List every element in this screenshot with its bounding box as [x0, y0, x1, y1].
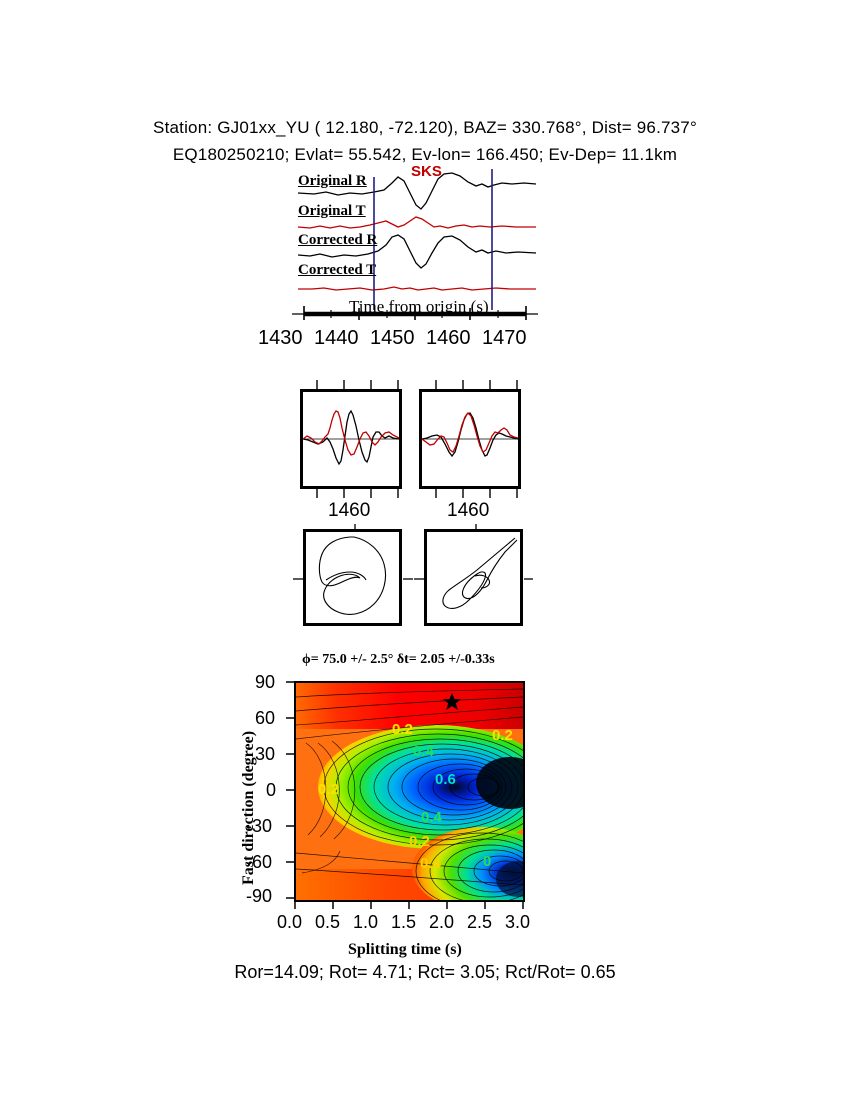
time-tick-1470: 1470 — [482, 327, 527, 350]
figure-root: Station: GJ01xx_YU ( 12.180, -72.120), B… — [0, 0, 850, 1100]
time-tick-1460: 1460 — [426, 327, 471, 350]
particle-motion-ellipse-uncorrected — [319, 537, 385, 614]
particle-motion-corrected — [424, 529, 523, 626]
contour-ytick-60: 60 — [255, 708, 275, 729]
time-tick-1440: 1440 — [314, 327, 359, 350]
contour-xtick-15: 1.5 — [391, 912, 416, 933]
zoom-left-fast-trace — [303, 411, 399, 455]
misfit-summary-footer: Ror=14.09; Rot= 4.71; Rct= 3.05; Rct/Rot… — [0, 962, 850, 983]
contour-label-1: 0.2 — [392, 721, 413, 738]
time-tick-1450: 1450 — [370, 327, 415, 350]
trace-label-original-r: Original R — [298, 173, 367, 190]
station-title-line1: Station: GJ01xx_YU ( 12.180, -72.120), B… — [0, 118, 850, 138]
zoom-right-fast-trace — [422, 413, 518, 452]
contour-label-7: 0.2 — [409, 833, 430, 850]
contour-y-axis-label: Fast direction (degree) — [240, 731, 258, 885]
contour-label-3: 0.6 — [435, 771, 456, 788]
contour-xtick-30: 3.0 — [505, 912, 530, 933]
zoom-panel-uncorrected — [300, 389, 402, 489]
zoom-panel-top-ticks — [300, 380, 522, 390]
trace-label-corrected-r: Corrected R — [298, 232, 377, 249]
contour-xtick-25: 2.5 — [467, 912, 492, 933]
contour-label-2: 0.4 — [413, 743, 434, 760]
zoom-right-tick-label: 1460 — [447, 500, 489, 522]
zoom-panel-corrected — [419, 389, 521, 489]
contour-label-9: 0 — [483, 853, 491, 870]
contour-ytick-0: 0 — [266, 780, 276, 801]
zoom-left-tick-label: 1460 — [328, 500, 370, 522]
contour-plot-area: 0.2 0.4 0.6 0.2 0.2 0.4 0.2 0.4 0 — [294, 681, 525, 902]
contour-xtick-10: 1.0 — [353, 912, 378, 933]
contour-header: ϕ= 75.0 +/- 2.5° δt= 2.05 +/-0.33s — [302, 652, 495, 668]
contour-label-6: 0.4 — [421, 809, 442, 826]
zoom-left-slow-trace — [303, 411, 399, 464]
zoom-right-slow-trace — [422, 413, 518, 456]
contour-xtick-20: 2.0 — [429, 912, 454, 933]
trace-label-original-t: Original T — [298, 203, 366, 220]
zoom-panel-bottom-ticks — [300, 489, 522, 499]
contour-label-5: 0.2 — [318, 781, 339, 798]
contour-label-4: 0.2 — [492, 727, 513, 744]
particle-motion-uncorrected — [303, 529, 402, 626]
contour-x-axis-label: Splitting time (s) — [348, 941, 462, 959]
trace-label-corrected-t: Corrected T — [298, 262, 376, 279]
contour-y-ticks — [284, 679, 296, 901]
trace-corrected-t — [298, 287, 536, 290]
contour-ytick-30: 30 — [255, 744, 275, 765]
contour-xtick-00: 0.0 — [277, 912, 302, 933]
time-tick-1430: 1430 — [258, 327, 303, 350]
particle-motion-line-corrected — [443, 538, 517, 608]
contour-label-8: 0.4 — [420, 855, 441, 872]
contour-xtick-05: 0.5 — [315, 912, 340, 933]
event-title-line2: EQ180250210; Evlat= 55.542, Ev-lon= 166.… — [0, 145, 850, 165]
contour-ytick-m90: -90 — [246, 886, 272, 907]
contour-ytick-90: 90 — [255, 672, 275, 693]
contour-x-ticks — [292, 900, 524, 912]
time-axis-label: Time from origin (s) — [349, 297, 489, 317]
sks-phase-label: SKS — [411, 163, 442, 180]
